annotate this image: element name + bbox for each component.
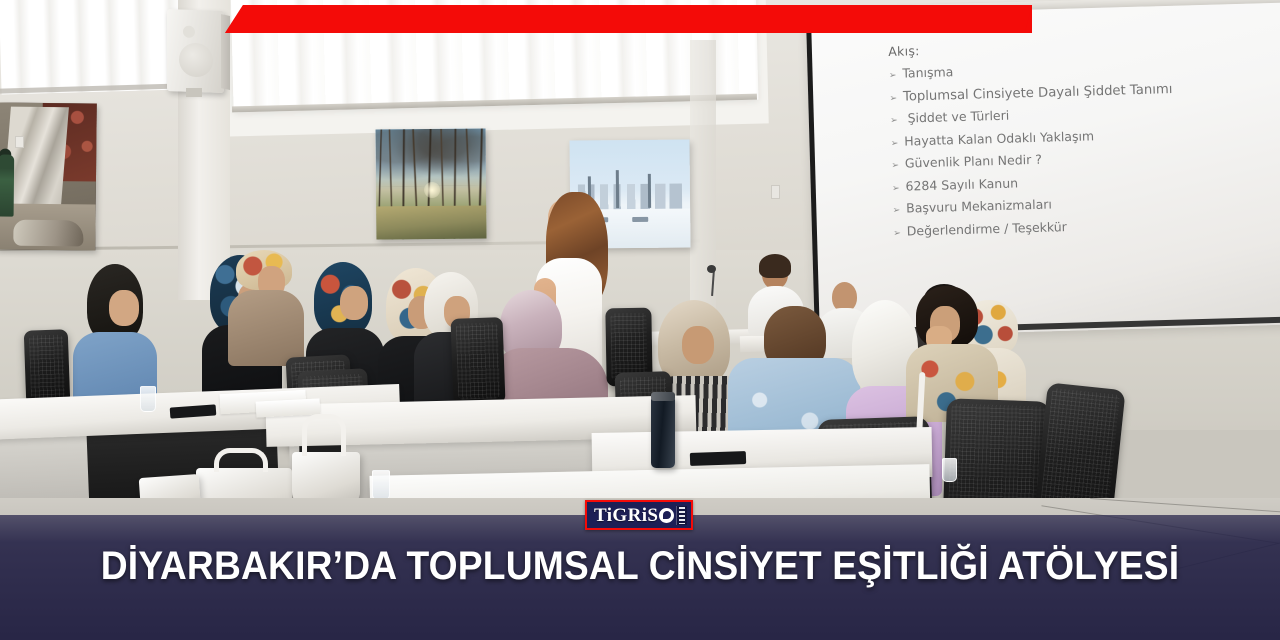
water-glass	[942, 458, 957, 482]
bullet-glyph: ➢	[892, 183, 900, 193]
bullet-glyph: ➢	[891, 138, 899, 148]
slide-bullet-item: ➢Güvenlik Planı Nedir ?	[891, 149, 1221, 171]
wall-speaker-icon	[167, 9, 224, 93]
slide-bullet-item: ➢Başvuru Mekanizmaları	[892, 194, 1222, 216]
thermos-flask	[651, 396, 675, 468]
headline-text: DİYARBAKIR’DA TOPLUMSAL CİNSİYET EŞİTLİĞ…	[45, 546, 1235, 586]
slide-bullet-item: ➢Hayatta Kalan Odaklı Yaklaşım	[891, 126, 1221, 148]
bullet-glyph: ➢	[891, 161, 899, 171]
handbag-handle	[214, 448, 268, 472]
attendee	[228, 250, 304, 362]
slide-bullet-label: Değerlendirme / Teşekkür	[907, 219, 1067, 238]
water-glass	[372, 470, 390, 500]
bullet-glyph: ➢	[893, 228, 901, 238]
outlet-logo-text: TiGRiS	[594, 506, 658, 525]
slide-bullet-label: Tanışma	[902, 64, 953, 80]
slide-bullet-item: ➢Değerlendirme / Teşekkür	[893, 216, 1223, 238]
thermos-lid	[651, 392, 675, 401]
news-photo-card: Akış: ➢Tanışma ➢Toplumsal Cinsiyete Daya…	[0, 0, 1280, 640]
handbag-handle	[302, 414, 346, 456]
bullet-glyph: ➢	[893, 206, 901, 216]
bullet-glyph: ➢	[889, 71, 897, 81]
microphone-icon	[707, 265, 716, 273]
slide-bullet-item: ➢Toplumsal Cinsiyete Dayalı Şiddet Tanım…	[889, 81, 1219, 103]
red-accent-band-inner	[225, 5, 1032, 33]
speaker-bracket	[186, 88, 202, 97]
slide-bullet-label: Toplumsal Cinsiyete Dayalı Şiddet Tanımı	[903, 82, 1173, 105]
bullet-glyph: ➢	[890, 116, 898, 126]
slide-bullet-item: ➢ Şiddet ve Türleri	[890, 104, 1220, 126]
slide-bullet-label: 6284 Sayılı Kanun	[905, 175, 1018, 193]
wall-switch	[15, 136, 24, 148]
slide-bullet-item: ➢6284 Sayılı Kanun	[892, 171, 1222, 193]
bullet-glyph: ➢	[889, 93, 897, 103]
slide-bullet-item: ➢Tanışma	[889, 59, 1219, 81]
wall-art-tent-camp-photo	[0, 102, 97, 250]
slide-bullet-label: Şiddet ve Türleri	[903, 108, 1009, 126]
wall-art-winter-park-canvas	[376, 129, 487, 240]
slide-content: Akış: ➢Tanışma ➢Toplumsal Cinsiyete Daya…	[888, 35, 1224, 259]
office-chair	[451, 317, 506, 405]
slide-bullet-label: Başvuru Mekanizmaları	[906, 197, 1052, 216]
window-curtain-left	[0, 0, 184, 95]
office-chair	[24, 329, 71, 404]
film-reel-icon	[659, 508, 674, 523]
slide-bullet-label: Hayatta Kalan Odaklı Yaklaşım	[904, 128, 1094, 148]
mobile-phone	[690, 451, 746, 466]
film-strip-icon	[676, 506, 687, 525]
water-glass	[140, 386, 156, 412]
wall-plate	[771, 185, 780, 199]
outlet-logo[interactable]: TiGRiS	[585, 500, 693, 530]
slide-bullet-label: Güvenlik Planı Nedir ?	[905, 152, 1042, 171]
